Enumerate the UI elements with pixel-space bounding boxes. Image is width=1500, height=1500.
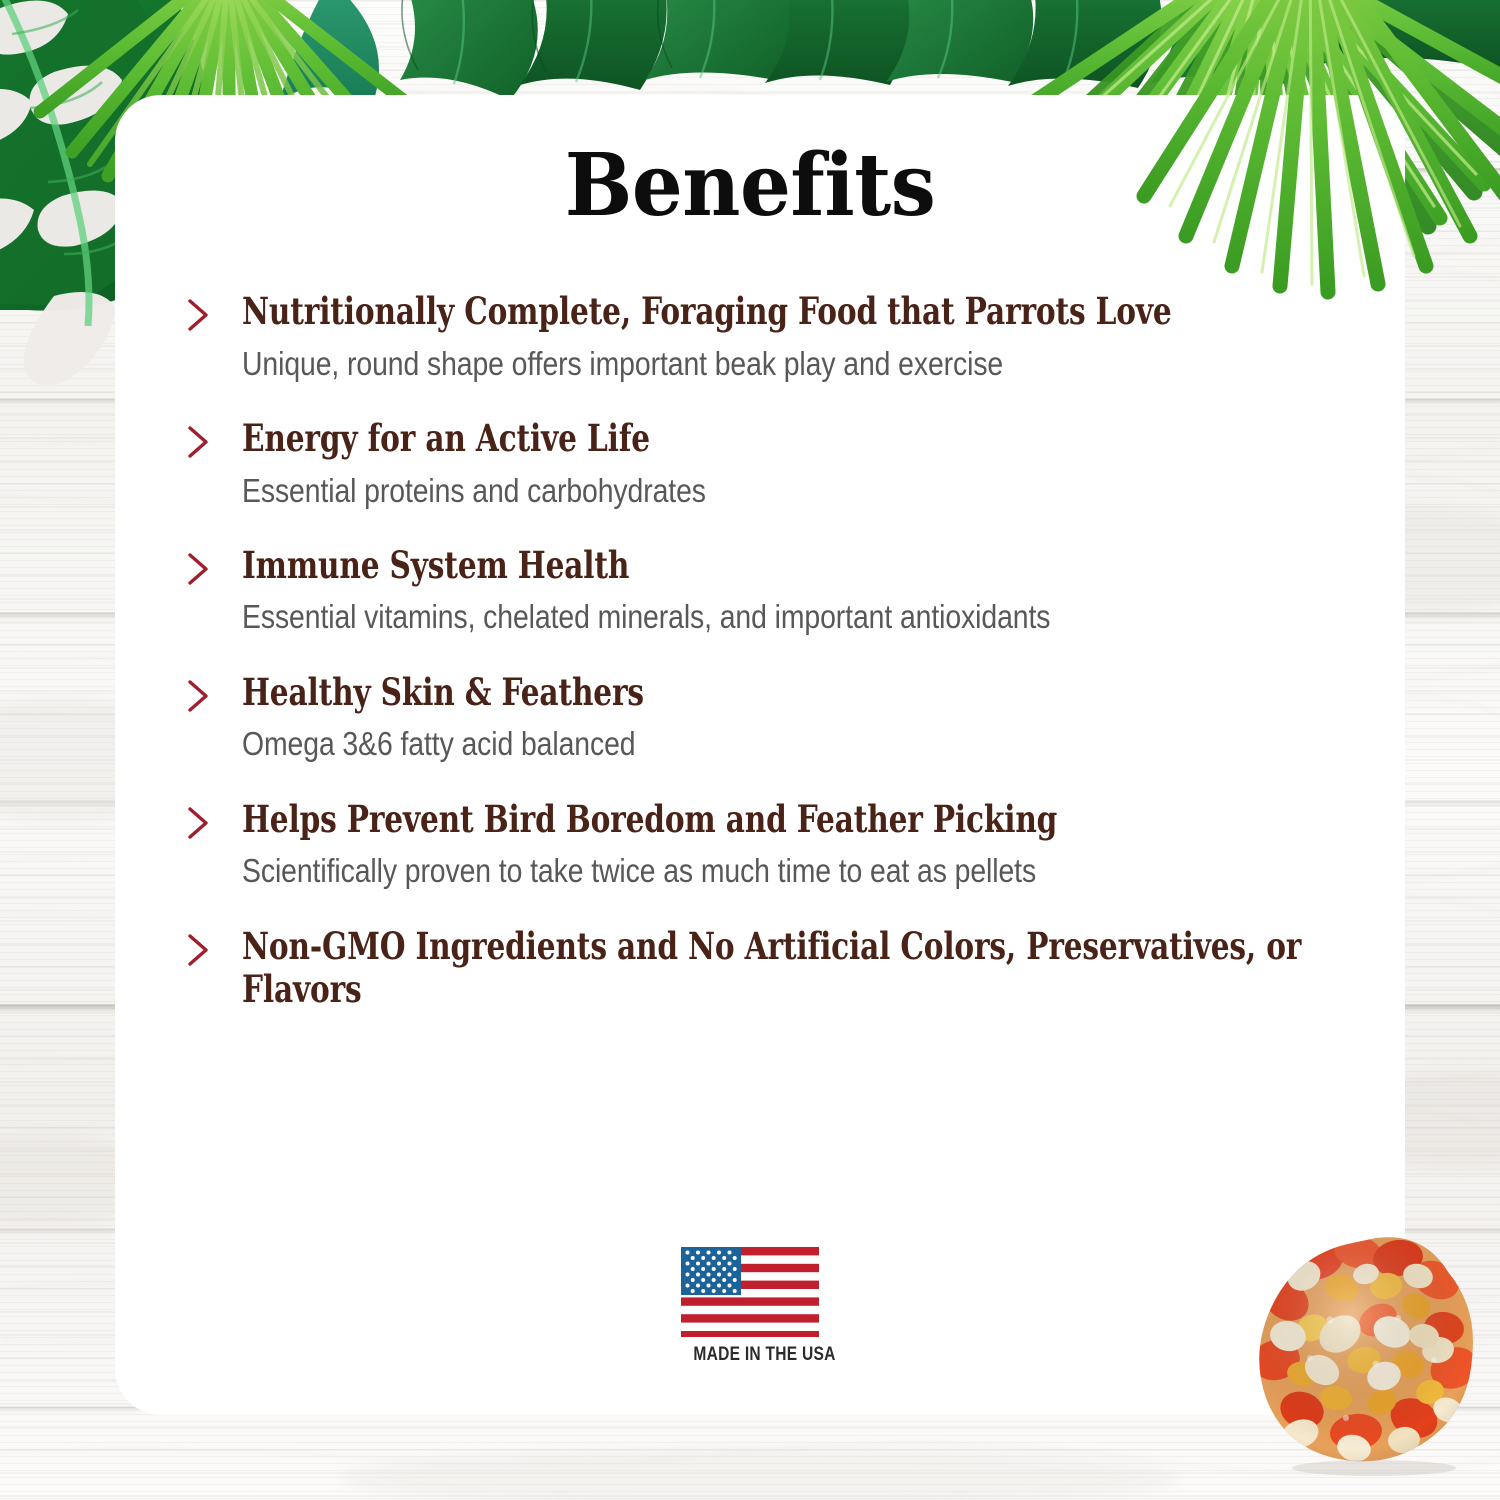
benefit-subtext: Omega 3&6 fatty acid balanced — [242, 723, 1333, 764]
benefit-item: Healthy Skin & Feathers Omega 3&6 fatty … — [186, 671, 1336, 765]
benefit-heading: Healthy Skin & Feathers — [242, 671, 1336, 715]
product-benefits-infographic: Benefits Nutritionally Complete, Foragin… — [0, 0, 1500, 1500]
benefit-subtext: Essential vitamins, chelated minerals, a… — [242, 596, 1333, 637]
page-title: Benefits — [53, 143, 1448, 229]
benefit-subtext: Unique, round shape offers important bea… — [242, 343, 1333, 384]
chevron-right-icon — [186, 679, 212, 713]
chevron-right-icon — [186, 425, 212, 459]
benefit-item: Helps Prevent Bird Boredom and Feather P… — [186, 798, 1336, 892]
chevron-right-icon — [186, 806, 212, 840]
benefit-heading: Nutritionally Complete, Foraging Food th… — [242, 290, 1336, 334]
benefit-item: Immune System Health Essential vitamins,… — [186, 544, 1336, 638]
chevron-right-icon — [186, 552, 212, 586]
benefit-subtext: Essential proteins and carbohydrates — [242, 470, 1333, 511]
chevron-right-icon — [186, 298, 212, 332]
benefit-heading: Energy for an Active Life — [242, 417, 1336, 461]
benefit-heading: Immune System Health — [242, 544, 1336, 588]
benefit-item: Nutritionally Complete, Foraging Food th… — [186, 290, 1336, 384]
chevron-right-icon — [186, 933, 212, 967]
benefit-item: Non-GMO Ingredients and No Artificial Co… — [186, 925, 1336, 1012]
benefit-subtext: Scientifically proven to take twice as m… — [242, 850, 1333, 891]
made-in-usa-label: MADE IN THE USA — [693, 1344, 806, 1366]
made-in-usa-badge: MADE IN THE USA — [681, 1247, 819, 1366]
benefits-list: Nutritionally Complete, Foraging Food th… — [186, 290, 1336, 1012]
benefit-item: Energy for an Active Life Essential prot… — [186, 417, 1336, 511]
benefit-heading: Helps Prevent Bird Boredom and Feather P… — [242, 798, 1336, 842]
usa-flag-icon — [681, 1247, 819, 1337]
benefit-heading: Non-GMO Ingredients and No Artificial Co… — [242, 925, 1336, 1012]
